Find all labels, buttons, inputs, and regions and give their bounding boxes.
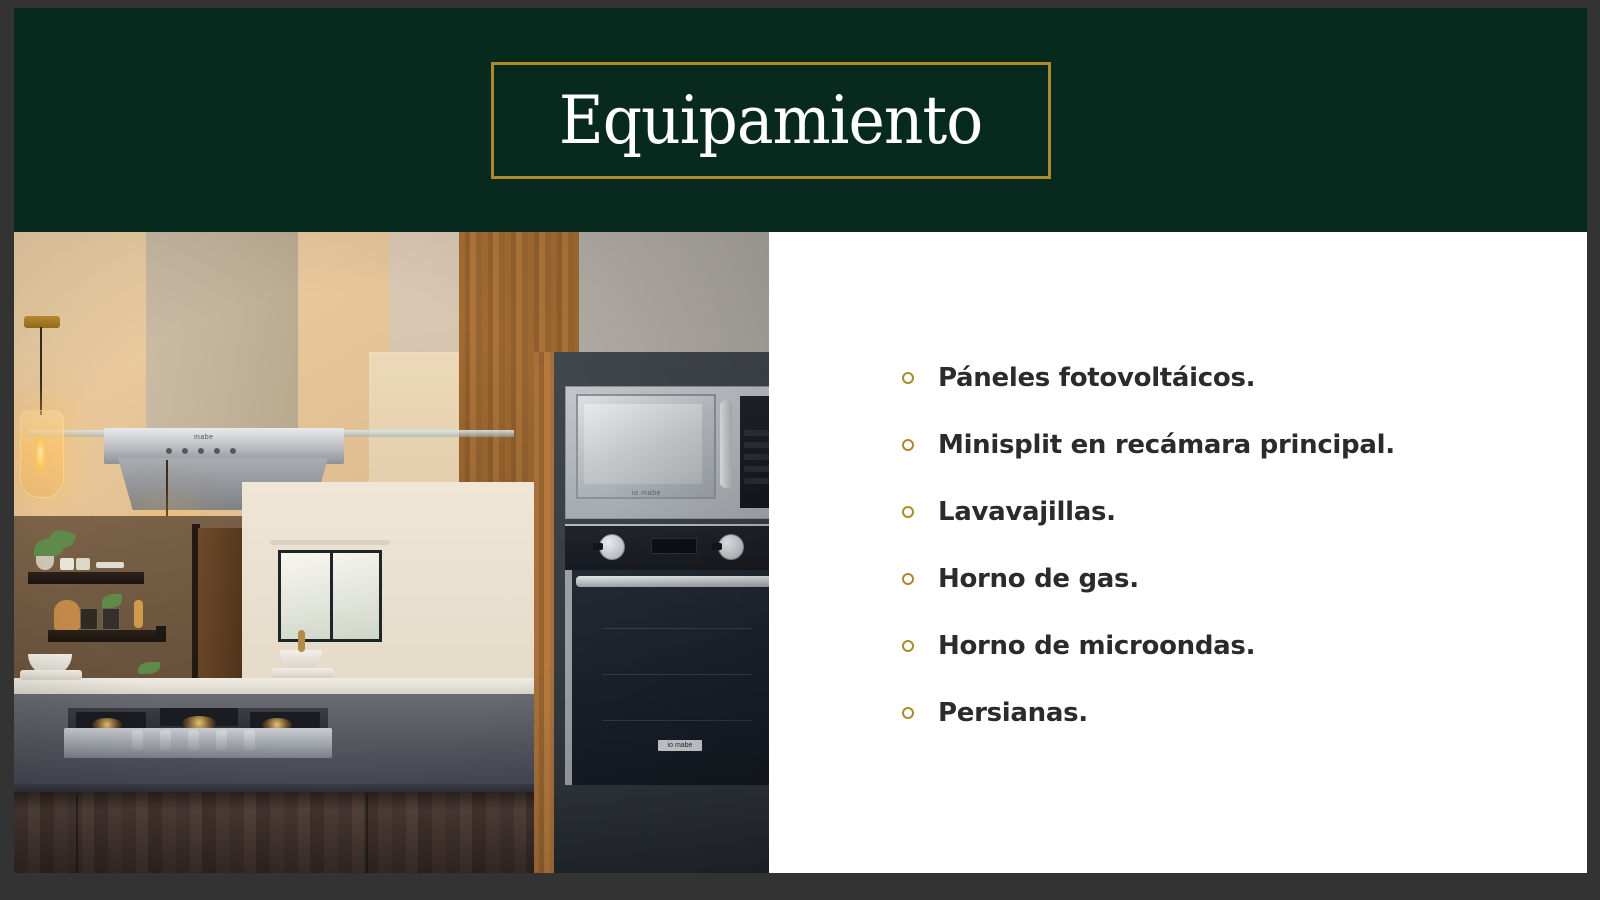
window-mullion [330, 553, 333, 639]
equipment-list: Páneles fotovoltáicos. Minisplit en recá… [902, 344, 1395, 746]
microwave-brand-label: io mabe [632, 490, 661, 497]
plate-icon [20, 670, 82, 680]
bowl-icon [36, 556, 54, 570]
cup-icon [60, 558, 74, 570]
slide-body: mabe [14, 232, 1587, 873]
slide-canvas: Equipamiento [14, 8, 1587, 873]
list-item-label: Horno de gas. [938, 564, 1139, 594]
list-item-label: Persianas. [938, 698, 1088, 728]
list-item: Horno de gas. [902, 545, 1395, 612]
burner-knob [216, 730, 227, 750]
tower-wood-trim [534, 352, 556, 873]
bullet-ring-icon [902, 640, 914, 652]
microwave-control-panel [740, 396, 769, 508]
cup-icon [76, 558, 90, 570]
list-item-label: Páneles fotovoltáicos. [938, 363, 1255, 393]
bullet-ring-icon [902, 707, 914, 719]
list-item: Páneles fotovoltáicos. [902, 344, 1395, 411]
list-item: Persianas. [902, 679, 1395, 746]
oven-handle [576, 576, 769, 587]
bullet-ring-icon [902, 439, 914, 451]
oven-brand-label: io mabe [658, 740, 702, 751]
bullet-ring-icon [902, 506, 914, 518]
plate-icon [272, 668, 334, 678]
cabinet-seam [366, 794, 368, 873]
range-hood-duct [146, 232, 298, 432]
list-item-label: Horno de microondas. [938, 631, 1255, 661]
floating-shelf [28, 572, 144, 584]
cabinetry-shading [14, 792, 574, 873]
list-item: Lavavajillas. [902, 478, 1395, 545]
list-item: Horno de microondas. [902, 612, 1395, 679]
presentation-viewport: Equipamiento [0, 0, 1600, 900]
oven-knob-right [718, 534, 744, 560]
tower-lower-panel [554, 780, 769, 873]
cutting-board-icon [54, 600, 80, 630]
picture-frame-icon [102, 608, 120, 630]
cabinet-seam [76, 794, 78, 873]
plant-icon [102, 594, 122, 608]
title-frame: Equipamiento [491, 62, 1051, 179]
picture-frame-icon [80, 608, 98, 630]
oven-knob-left [599, 534, 625, 560]
curtain-rod [270, 540, 390, 545]
burner-knob [132, 730, 143, 750]
back-counter [14, 678, 574, 694]
vase-icon [134, 600, 143, 628]
slide-header-band: Equipamiento [14, 8, 1587, 232]
window [278, 550, 382, 642]
kitchen-photo: mabe [14, 232, 769, 873]
bullet-ring-icon [902, 573, 914, 585]
burner-knob [244, 730, 255, 750]
page-title: Equipamiento [559, 88, 982, 154]
faucet-icon [298, 630, 305, 652]
lamp-filament-icon [36, 436, 45, 470]
bullet-ring-icon [902, 372, 914, 384]
hood-brand-label: mabe [194, 434, 214, 441]
pendant-cord [40, 327, 42, 415]
oven-display [651, 538, 697, 554]
list-item-label: Minisplit en recámara principal. [938, 430, 1395, 460]
gas-oven [565, 570, 769, 785]
outlet-icon [156, 626, 166, 642]
tray-icon [96, 562, 124, 568]
floating-shelf [48, 630, 156, 642]
content-panel: Páneles fotovoltáicos. Minisplit en recá… [769, 232, 1587, 873]
burner-knob [188, 730, 199, 750]
burner-knob [160, 730, 171, 750]
hood-control-buttons [166, 448, 236, 454]
list-item: Minisplit en recámara principal. [902, 411, 1395, 478]
pendant-ceiling-mount [24, 316, 60, 328]
list-item-label: Lavavajillas. [938, 497, 1116, 527]
microwave-window [584, 404, 702, 484]
microwave-handle [720, 400, 732, 488]
